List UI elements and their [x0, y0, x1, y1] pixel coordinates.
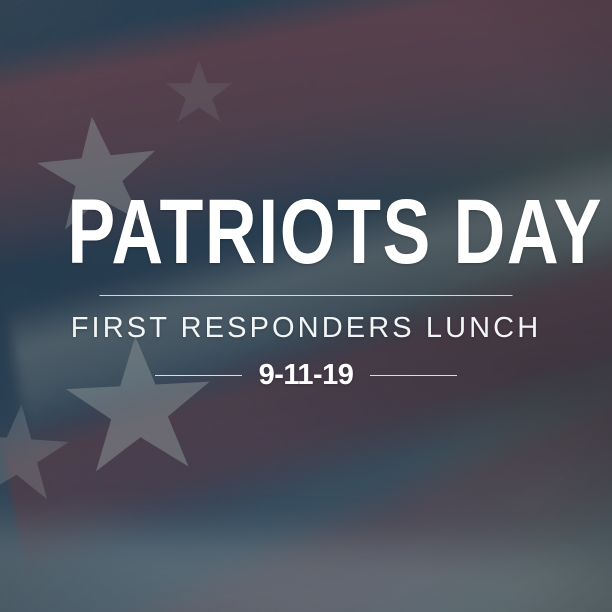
page-title: PATRIOTS DAY: [67, 186, 544, 278]
date-divider-right: [370, 375, 457, 376]
event-date: 9-11-19: [259, 360, 354, 390]
event-subtitle: FIRST RESPONDERS LUNCH: [0, 313, 612, 343]
date-divider-left: [155, 375, 242, 376]
patriots-day-poster: PATRIOTS DAY FIRST RESPONDERS LUNCH 9-11…: [0, 0, 612, 612]
title-divider: [100, 295, 513, 296]
event-date-row: 9-11-19: [0, 360, 612, 390]
poster-content: PATRIOTS DAY FIRST RESPONDERS LUNCH 9-11…: [0, 0, 612, 612]
